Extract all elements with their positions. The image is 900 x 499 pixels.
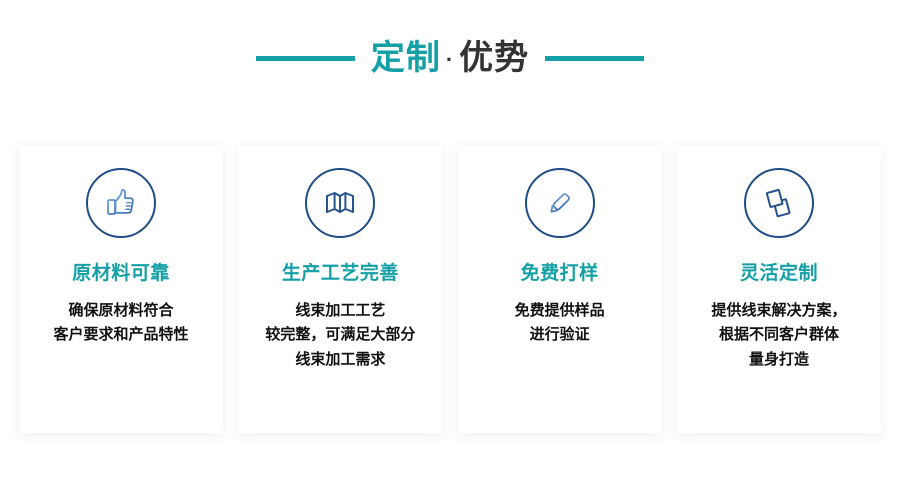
description-line: 免费提供样品 [466, 299, 654, 323]
feature-card-title: 原材料可靠 [72, 264, 170, 283]
description-line: 提供线束解决方案， [685, 299, 873, 323]
feature-card-flexible-custom[interactable]: 灵活定制 提供线束解决方案， 根据不同客户群体 量身打造 [677, 146, 881, 433]
header-rule-left [256, 56, 355, 61]
description-line: 线束加工需求 [246, 348, 434, 372]
feature-card-free-sample[interactable]: 免费打样 免费提供样品 进行验证 [458, 146, 662, 433]
feature-card-description: 提供线束解决方案， 根据不同客户群体 量身打造 [677, 299, 881, 372]
pencil-icon [543, 186, 577, 220]
icon-ring [86, 168, 156, 238]
feature-card-production-process[interactable]: 生产工艺完善 线束加工工艺 较完整，可满足大部分 线束加工需求 [238, 146, 442, 433]
feature-card-description: 免费提供样品 进行验证 [458, 299, 662, 348]
feature-card-title: 生产工艺完善 [282, 264, 399, 283]
feature-card-description: 确保原材料符合 客户要求和产品特性 [19, 299, 223, 348]
icon-ring [525, 168, 595, 238]
section-header: 定制 · 优势 [0, 30, 900, 86]
description-line: 客户要求和产品特性 [27, 323, 215, 347]
description-line: 根据不同客户群体 [685, 323, 873, 347]
description-line: 较完整，可满足大部分 [246, 323, 434, 347]
folded-map-icon [323, 186, 357, 220]
description-line: 确保原材料符合 [27, 299, 215, 323]
stacked-cards-icon [762, 186, 796, 220]
description-line: 量身打造 [685, 348, 873, 372]
description-line: 线束加工工艺 [246, 299, 434, 323]
feature-card-title: 免费打样 [521, 264, 599, 283]
page-title-separator: · [446, 49, 454, 71]
description-line: 进行验证 [466, 323, 654, 347]
page-title-rest: 优势 [459, 41, 529, 75]
feature-card-title: 灵活定制 [740, 264, 818, 283]
icon-ring [744, 168, 814, 238]
thumbs-up-icon [104, 186, 138, 220]
feature-card-description: 线束加工工艺 较完整，可满足大部分 线束加工需求 [238, 299, 442, 372]
page-title: 定制 · 优势 [371, 41, 529, 75]
page-title-accent: 定制 [371, 41, 441, 75]
feature-cards-row: 原材料可靠 确保原材料符合 客户要求和产品特性 生产工艺完善 线束加工工艺 较完… [19, 146, 881, 433]
header-rule-right [545, 56, 644, 61]
icon-ring [305, 168, 375, 238]
feature-card-raw-material[interactable]: 原材料可靠 确保原材料符合 客户要求和产品特性 [19, 146, 223, 433]
